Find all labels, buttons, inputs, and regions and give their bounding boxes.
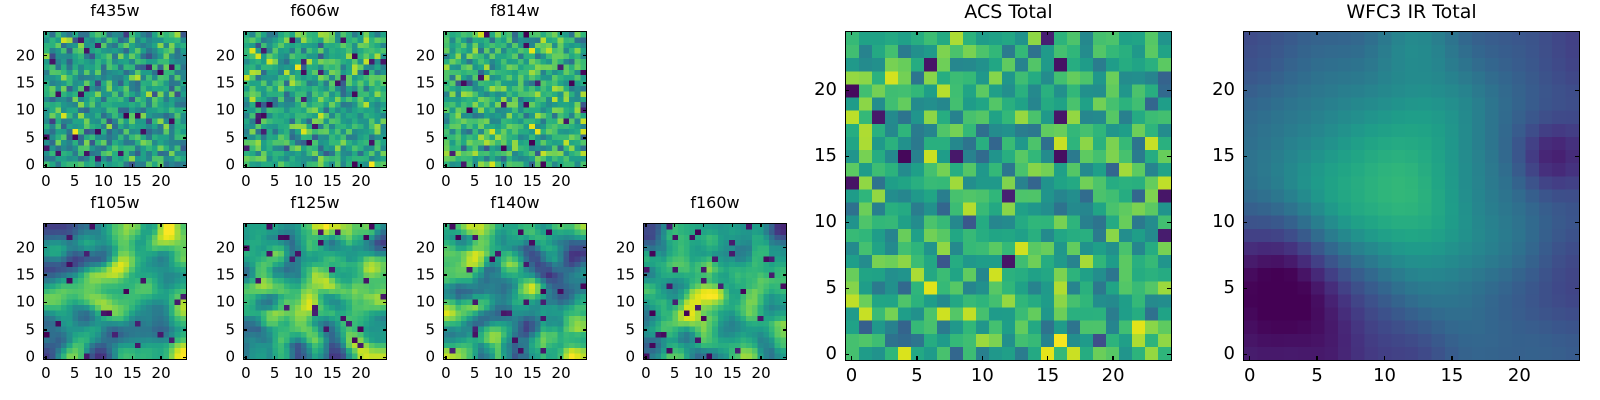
yticklabel-f435w-0: 0 xyxy=(1,158,35,173)
yticklabel-f435w-4: 20 xyxy=(1,48,35,63)
heatmap-image-wfc3-ir-total xyxy=(1244,32,1579,360)
ytick-right-f435w-3 xyxy=(183,82,187,83)
heatmap-axes-wfc3-ir-total xyxy=(1243,31,1580,361)
ytick-f160w-2 xyxy=(643,302,647,303)
xticklabel-f125w-0: 0 xyxy=(241,366,251,381)
xtick-top-wfc3-ir-total-4 xyxy=(1519,31,1520,35)
xtick-top-f140w-3 xyxy=(532,223,533,227)
ytick-right-f814w-3 xyxy=(583,82,587,83)
heatmap-axes-f814w xyxy=(443,31,587,168)
ytick-right-f140w-4 xyxy=(583,247,587,248)
xticklabel-acs-total-4: 20 xyxy=(1102,367,1125,385)
xtick-top-acs-total-4 xyxy=(1112,31,1113,35)
yticklabel-f435w-3: 15 xyxy=(1,76,35,91)
xtick-acs-total-1 xyxy=(916,356,917,360)
xtick-f125w-1 xyxy=(274,356,275,360)
xticklabel-f105w-3: 15 xyxy=(123,366,142,381)
ytick-right-f435w-2 xyxy=(183,110,187,111)
ytick-f435w-0 xyxy=(43,165,47,166)
xtick-f105w-3 xyxy=(132,356,133,360)
yticklabel-f140w-2: 10 xyxy=(401,295,435,310)
panel-title-f814w: f814w xyxy=(443,3,587,19)
xticklabel-f435w-2: 10 xyxy=(94,174,113,189)
ytick-f435w-3 xyxy=(43,82,47,83)
xtick-f125w-4 xyxy=(360,356,361,360)
ytick-acs-total-0 xyxy=(845,354,849,355)
xtick-top-f435w-1 xyxy=(74,31,75,35)
yticklabel-f105w-4: 20 xyxy=(1,240,35,255)
xtick-top-f814w-4 xyxy=(560,31,561,35)
xtick-f125w-3 xyxy=(332,356,333,360)
xtick-top-f105w-3 xyxy=(132,223,133,227)
ytick-right-f606w-4 xyxy=(383,55,387,56)
ytick-right-acs-total-0 xyxy=(1167,354,1171,355)
yticklabel-f140w-3: 15 xyxy=(401,268,435,283)
panel-f435w: f435w0510152005101520 xyxy=(43,3,187,194)
heatmap-image-f125w xyxy=(244,224,386,359)
ytick-right-f125w-3 xyxy=(383,274,387,275)
yticklabel-f814w-4: 20 xyxy=(401,48,435,63)
ytick-right-f435w-4 xyxy=(183,55,187,56)
xticklabel-f814w-1: 5 xyxy=(470,174,480,189)
xtick-acs-total-0 xyxy=(851,356,852,360)
ytick-f105w-1 xyxy=(43,329,47,330)
heatmap-image-f105w xyxy=(44,224,186,359)
ytick-right-f140w-2 xyxy=(583,302,587,303)
ytick-wfc3-ir-total-1 xyxy=(1243,288,1247,289)
xtick-top-f814w-0 xyxy=(445,31,446,35)
panel-title-wfc3-ir-total: WFC3 IR Total xyxy=(1243,3,1580,22)
ytick-right-f606w-3 xyxy=(383,82,387,83)
ytick-right-acs-total-4 xyxy=(1167,90,1171,91)
xtick-top-f435w-3 xyxy=(132,31,133,35)
xticklabel-f814w-4: 20 xyxy=(552,174,571,189)
ytick-f160w-0 xyxy=(643,357,647,358)
ytick-right-f160w-0 xyxy=(783,357,787,358)
xtick-f435w-3 xyxy=(132,164,133,168)
xtick-acs-total-2 xyxy=(982,356,983,360)
ytick-f105w-3 xyxy=(43,274,47,275)
heatmap-axes-f606w xyxy=(243,31,387,168)
ytick-acs-total-3 xyxy=(845,156,849,157)
ytick-right-f125w-4 xyxy=(383,247,387,248)
xtick-wfc3-ir-total-1 xyxy=(1316,356,1317,360)
yticklabel-wfc3-ir-total-3: 15 xyxy=(1201,147,1235,165)
yticklabel-wfc3-ir-total-2: 10 xyxy=(1201,213,1235,231)
xtick-top-f105w-0 xyxy=(45,223,46,227)
ytick-f606w-2 xyxy=(243,110,247,111)
yticklabel-f606w-1: 5 xyxy=(201,130,235,145)
xticklabel-f140w-0: 0 xyxy=(441,366,451,381)
xtick-top-f435w-2 xyxy=(103,31,104,35)
xticklabel-f160w-1: 5 xyxy=(670,366,680,381)
xtick-top-f140w-0 xyxy=(445,223,446,227)
xtick-top-wfc3-ir-total-1 xyxy=(1316,31,1317,35)
yticklabel-f125w-4: 20 xyxy=(201,240,235,255)
xtick-top-f606w-0 xyxy=(245,31,246,35)
yticklabel-wfc3-ir-total-1: 5 xyxy=(1201,279,1235,297)
xtick-top-f105w-1 xyxy=(74,223,75,227)
xtick-f140w-3 xyxy=(532,356,533,360)
xtick-f160w-3 xyxy=(732,356,733,360)
ytick-f160w-4 xyxy=(643,247,647,248)
ytick-right-acs-total-1 xyxy=(1167,288,1171,289)
yticklabel-f606w-0: 0 xyxy=(201,158,235,173)
ytick-f125w-2 xyxy=(243,302,247,303)
ytick-f606w-3 xyxy=(243,82,247,83)
xticklabel-f606w-1: 5 xyxy=(270,174,280,189)
xtick-f606w-4 xyxy=(360,164,361,168)
heatmap-image-f140w xyxy=(444,224,586,359)
xtick-top-f606w-3 xyxy=(332,31,333,35)
yticklabel-f160w-2: 10 xyxy=(601,295,635,310)
xtick-top-f140w-1 xyxy=(474,223,475,227)
xticklabel-f814w-0: 0 xyxy=(441,174,451,189)
yticklabel-f160w-4: 20 xyxy=(601,240,635,255)
ytick-right-f105w-3 xyxy=(183,274,187,275)
ytick-f125w-3 xyxy=(243,274,247,275)
xticklabel-f435w-1: 5 xyxy=(70,174,80,189)
ytick-f606w-0 xyxy=(243,165,247,166)
xtick-acs-total-4 xyxy=(1112,356,1113,360)
ytick-f140w-3 xyxy=(443,274,447,275)
xtick-top-f160w-2 xyxy=(703,223,704,227)
ytick-right-f814w-4 xyxy=(583,55,587,56)
xtick-top-f140w-4 xyxy=(560,223,561,227)
xticklabel-wfc3-ir-total-3: 15 xyxy=(1440,367,1463,385)
ytick-f140w-1 xyxy=(443,329,447,330)
yticklabel-f435w-1: 5 xyxy=(1,130,35,145)
xtick-top-acs-total-1 xyxy=(916,31,917,35)
xtick-wfc3-ir-total-4 xyxy=(1519,356,1520,360)
xtick-top-f125w-1 xyxy=(274,223,275,227)
ytick-right-f125w-1 xyxy=(383,329,387,330)
ytick-acs-total-2 xyxy=(845,222,849,223)
xtick-f814w-2 xyxy=(503,164,504,168)
ytick-f125w-4 xyxy=(243,247,247,248)
ytick-right-f140w-3 xyxy=(583,274,587,275)
xticklabel-f140w-1: 5 xyxy=(470,366,480,381)
ytick-f814w-1 xyxy=(443,137,447,138)
yticklabel-f606w-4: 20 xyxy=(201,48,235,63)
xtick-top-acs-total-3 xyxy=(1047,31,1048,35)
xticklabel-wfc3-ir-total-4: 20 xyxy=(1508,367,1531,385)
xticklabel-wfc3-ir-total-2: 10 xyxy=(1373,367,1396,385)
panel-f105w: f105w0510152005101520 xyxy=(43,195,187,386)
ytick-wfc3-ir-total-3 xyxy=(1243,156,1247,157)
xtick-f160w-4 xyxy=(760,356,761,360)
xticklabel-f105w-1: 5 xyxy=(70,366,80,381)
xtick-f140w-2 xyxy=(503,356,504,360)
xtick-top-f125w-3 xyxy=(332,223,333,227)
xtick-top-f814w-1 xyxy=(474,31,475,35)
ytick-right-f140w-0 xyxy=(583,357,587,358)
xticklabel-f160w-4: 20 xyxy=(752,366,771,381)
xtick-f105w-2 xyxy=(103,356,104,360)
xtick-top-acs-total-2 xyxy=(982,31,983,35)
xtick-f105w-4 xyxy=(160,356,161,360)
panel-f140w: f140w0510152005101520 xyxy=(443,195,587,386)
panel-f160w: f160w0510152005101520 xyxy=(643,195,787,386)
panel-title-f105w: f105w xyxy=(43,195,187,211)
xticklabel-f160w-3: 15 xyxy=(723,366,742,381)
ytick-acs-total-1 xyxy=(845,288,849,289)
ytick-right-f814w-1 xyxy=(583,137,587,138)
yticklabel-f606w-2: 10 xyxy=(201,103,235,118)
xtick-f105w-1 xyxy=(74,356,75,360)
ytick-right-f160w-4 xyxy=(783,247,787,248)
yticklabel-f105w-1: 5 xyxy=(1,322,35,337)
xtick-top-f125w-4 xyxy=(360,223,361,227)
xticklabel-f435w-0: 0 xyxy=(41,174,51,189)
xticklabel-f105w-2: 10 xyxy=(94,366,113,381)
ytick-f140w-0 xyxy=(443,357,447,358)
ytick-right-f606w-1 xyxy=(383,137,387,138)
ytick-f125w-0 xyxy=(243,357,247,358)
panel-title-f140w: f140w xyxy=(443,195,587,211)
xtick-wfc3-ir-total-3 xyxy=(1451,356,1452,360)
yticklabel-f105w-0: 0 xyxy=(1,350,35,365)
ytick-f814w-3 xyxy=(443,82,447,83)
yticklabel-acs-total-3: 15 xyxy=(803,147,837,165)
heatmap-axes-f435w xyxy=(43,31,187,168)
yticklabel-wfc3-ir-total-0: 0 xyxy=(1201,345,1235,363)
figure-canvas: f435w0510152005101520f606w05101520051015… xyxy=(0,0,1600,400)
yticklabel-f140w-1: 5 xyxy=(401,322,435,337)
xtick-top-acs-total-0 xyxy=(851,31,852,35)
panel-title-f435w: f435w xyxy=(43,3,187,19)
xtick-top-f105w-4 xyxy=(160,223,161,227)
xtick-f125w-2 xyxy=(303,356,304,360)
xticklabel-f814w-3: 15 xyxy=(523,174,542,189)
ytick-right-f435w-0 xyxy=(183,165,187,166)
ytick-right-f125w-2 xyxy=(383,302,387,303)
xtick-top-f140w-2 xyxy=(503,223,504,227)
xticklabel-f606w-3: 15 xyxy=(323,174,342,189)
yticklabel-f160w-1: 5 xyxy=(601,322,635,337)
ytick-f160w-3 xyxy=(643,274,647,275)
yticklabel-f125w-0: 0 xyxy=(201,350,235,365)
yticklabel-f814w-0: 0 xyxy=(401,158,435,173)
ytick-f435w-2 xyxy=(43,110,47,111)
ytick-right-f125w-0 xyxy=(383,357,387,358)
xtick-top-wfc3-ir-total-2 xyxy=(1384,31,1385,35)
xtick-f435w-2 xyxy=(103,164,104,168)
xtick-top-f606w-1 xyxy=(274,31,275,35)
ytick-f125w-1 xyxy=(243,329,247,330)
ytick-f105w-0 xyxy=(43,357,47,358)
panel-wfc3-ir-total: WFC3 IR Total0510152005101520 xyxy=(1243,3,1580,387)
heatmap-axes-acs-total xyxy=(845,31,1172,361)
yticklabel-wfc3-ir-total-4: 20 xyxy=(1201,81,1235,99)
xticklabel-f160w-0: 0 xyxy=(641,366,651,381)
ytick-right-f160w-2 xyxy=(783,302,787,303)
panel-title-acs-total: ACS Total xyxy=(845,3,1172,22)
ytick-right-f105w-4 xyxy=(183,247,187,248)
xtick-f435w-1 xyxy=(74,164,75,168)
xtick-f814w-3 xyxy=(532,164,533,168)
xtick-top-f160w-3 xyxy=(732,223,733,227)
panel-f606w: f606w0510152005101520 xyxy=(243,3,387,194)
xtick-f606w-1 xyxy=(274,164,275,168)
yticklabel-f125w-3: 15 xyxy=(201,268,235,283)
xticklabel-f814w-2: 10 xyxy=(494,174,513,189)
xticklabel-wfc3-ir-total-0: 0 xyxy=(1244,367,1255,385)
xtick-wfc3-ir-total-2 xyxy=(1384,356,1385,360)
yticklabel-f814w-3: 15 xyxy=(401,76,435,91)
xticklabel-wfc3-ir-total-1: 5 xyxy=(1311,367,1322,385)
yticklabel-f814w-1: 5 xyxy=(401,130,435,145)
ytick-wfc3-ir-total-0 xyxy=(1243,354,1247,355)
ytick-f814w-0 xyxy=(443,165,447,166)
ytick-right-f606w-2 xyxy=(383,110,387,111)
xticklabel-f140w-2: 10 xyxy=(494,366,513,381)
xticklabel-f606w-2: 10 xyxy=(294,174,313,189)
ytick-right-f140w-1 xyxy=(583,329,587,330)
xtick-f606w-2 xyxy=(303,164,304,168)
panel-title-f606w: f606w xyxy=(243,3,387,19)
xticklabel-f125w-3: 15 xyxy=(323,366,342,381)
panel-acs-total: ACS Total0510152005101520 xyxy=(845,3,1172,387)
xtick-top-f814w-2 xyxy=(503,31,504,35)
xtick-f606w-3 xyxy=(332,164,333,168)
xtick-f814w-4 xyxy=(560,164,561,168)
xtick-top-f606w-2 xyxy=(303,31,304,35)
panel-title-f125w: f125w xyxy=(243,195,387,211)
xtick-top-f435w-4 xyxy=(160,31,161,35)
yticklabel-f160w-3: 15 xyxy=(601,268,635,283)
xtick-top-wfc3-ir-total-0 xyxy=(1249,31,1250,35)
ytick-right-f160w-1 xyxy=(783,329,787,330)
heatmap-image-f814w xyxy=(444,32,586,167)
ytick-f105w-2 xyxy=(43,302,47,303)
ytick-right-acs-total-2 xyxy=(1167,222,1171,223)
xticklabel-f606w-4: 20 xyxy=(352,174,371,189)
ytick-right-f435w-1 xyxy=(183,137,187,138)
yticklabel-f125w-2: 10 xyxy=(201,295,235,310)
yticklabel-f435w-2: 10 xyxy=(1,103,35,118)
heatmap-axes-f160w xyxy=(643,223,787,360)
xtick-top-f160w-1 xyxy=(674,223,675,227)
xticklabel-f140w-3: 15 xyxy=(523,366,542,381)
xticklabel-f435w-4: 20 xyxy=(152,174,171,189)
xticklabel-f140w-4: 20 xyxy=(552,366,571,381)
yticklabel-f606w-3: 15 xyxy=(201,76,235,91)
xticklabel-f105w-0: 0 xyxy=(41,366,51,381)
ytick-f160w-1 xyxy=(643,329,647,330)
xticklabel-acs-total-0: 0 xyxy=(846,367,857,385)
xtick-top-f160w-4 xyxy=(760,223,761,227)
xtick-f160w-1 xyxy=(674,356,675,360)
yticklabel-f140w-0: 0 xyxy=(401,350,435,365)
xtick-top-f814w-3 xyxy=(532,31,533,35)
panel-f814w: f814w0510152005101520 xyxy=(443,3,587,194)
ytick-right-wfc3-ir-total-4 xyxy=(1575,90,1579,91)
xticklabel-f125w-4: 20 xyxy=(352,366,371,381)
xticklabel-acs-total-2: 10 xyxy=(971,367,994,385)
ytick-f140w-2 xyxy=(443,302,447,303)
ytick-f140w-4 xyxy=(443,247,447,248)
xticklabel-f160w-2: 10 xyxy=(694,366,713,381)
yticklabel-f160w-0: 0 xyxy=(601,350,635,365)
ytick-right-wfc3-ir-total-1 xyxy=(1575,288,1579,289)
ytick-right-acs-total-3 xyxy=(1167,156,1171,157)
xticklabel-f125w-2: 10 xyxy=(294,366,313,381)
yticklabel-acs-total-2: 10 xyxy=(803,213,837,231)
xtick-f814w-1 xyxy=(474,164,475,168)
ytick-wfc3-ir-total-4 xyxy=(1243,90,1247,91)
ytick-right-f105w-0 xyxy=(183,357,187,358)
yticklabel-acs-total-0: 0 xyxy=(803,345,837,363)
heatmap-image-acs-total xyxy=(846,32,1171,360)
xticklabel-acs-total-3: 15 xyxy=(1036,367,1059,385)
xtick-acs-total-3 xyxy=(1047,356,1048,360)
xtick-top-f160w-0 xyxy=(645,223,646,227)
yticklabel-acs-total-4: 20 xyxy=(803,81,837,99)
xtick-f140w-4 xyxy=(560,356,561,360)
ytick-right-f105w-1 xyxy=(183,329,187,330)
ytick-right-wfc3-ir-total-0 xyxy=(1575,354,1579,355)
xticklabel-f125w-1: 5 xyxy=(270,366,280,381)
ytick-right-wfc3-ir-total-2 xyxy=(1575,222,1579,223)
heatmap-axes-f105w xyxy=(43,223,187,360)
xticklabel-f105w-4: 20 xyxy=(152,366,171,381)
ytick-acs-total-4 xyxy=(845,90,849,91)
ytick-right-f814w-2 xyxy=(583,110,587,111)
ytick-right-f814w-0 xyxy=(583,165,587,166)
ytick-wfc3-ir-total-2 xyxy=(1243,222,1247,223)
heatmap-image-f160w xyxy=(644,224,786,359)
ytick-f435w-1 xyxy=(43,137,47,138)
xtick-top-f435w-0 xyxy=(45,31,46,35)
heatmap-axes-f140w xyxy=(443,223,587,360)
yticklabel-f125w-1: 5 xyxy=(201,322,235,337)
xtick-top-f125w-2 xyxy=(303,223,304,227)
xtick-f435w-4 xyxy=(160,164,161,168)
xtick-top-f606w-4 xyxy=(360,31,361,35)
heatmap-image-f606w xyxy=(244,32,386,167)
yticklabel-f814w-2: 10 xyxy=(401,103,435,118)
xticklabel-acs-total-1: 5 xyxy=(911,367,922,385)
ytick-right-f606w-0 xyxy=(383,165,387,166)
xtick-f160w-2 xyxy=(703,356,704,360)
panel-f125w: f125w0510152005101520 xyxy=(243,195,387,386)
xtick-top-f125w-0 xyxy=(245,223,246,227)
xtick-top-wfc3-ir-total-3 xyxy=(1451,31,1452,35)
xtick-top-f105w-2 xyxy=(103,223,104,227)
ytick-f814w-4 xyxy=(443,55,447,56)
yticklabel-f105w-2: 10 xyxy=(1,295,35,310)
ytick-right-f105w-2 xyxy=(183,302,187,303)
xticklabel-f435w-3: 15 xyxy=(123,174,142,189)
xtick-f140w-1 xyxy=(474,356,475,360)
heatmap-axes-f125w xyxy=(243,223,387,360)
yticklabel-f105w-3: 15 xyxy=(1,268,35,283)
ytick-f814w-2 xyxy=(443,110,447,111)
ytick-f606w-1 xyxy=(243,137,247,138)
ytick-f606w-4 xyxy=(243,55,247,56)
xticklabel-f606w-0: 0 xyxy=(241,174,251,189)
ytick-right-f160w-3 xyxy=(783,274,787,275)
ytick-right-wfc3-ir-total-3 xyxy=(1575,156,1579,157)
ytick-f435w-4 xyxy=(43,55,47,56)
yticklabel-f140w-4: 20 xyxy=(401,240,435,255)
heatmap-image-f435w xyxy=(44,32,186,167)
ytick-f105w-4 xyxy=(43,247,47,248)
panel-title-f160w: f160w xyxy=(643,195,787,211)
yticklabel-acs-total-1: 5 xyxy=(803,279,837,297)
xtick-wfc3-ir-total-0 xyxy=(1249,356,1250,360)
